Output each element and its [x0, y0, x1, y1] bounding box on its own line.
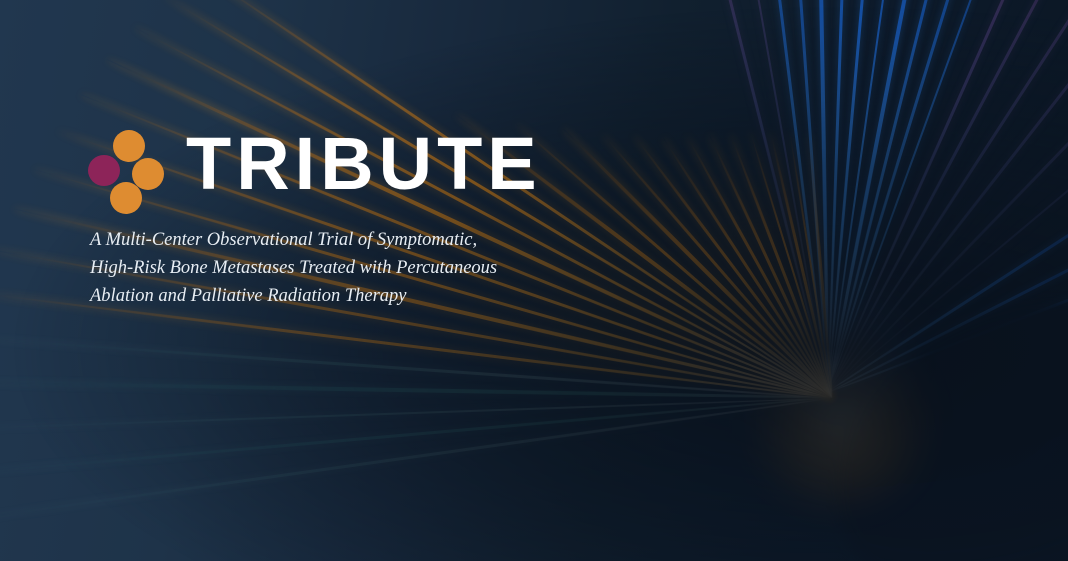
trial-subtitle: A Multi-Center Observational Trial of Sy… [90, 226, 542, 310]
logo-dot-bottom-icon [110, 182, 142, 214]
brand-row: TRIBUTE [88, 128, 542, 204]
tribute-logo-mark [88, 128, 164, 204]
logo-dot-top-icon [113, 130, 145, 162]
logo-dot-left-icon [88, 155, 120, 186]
title-slide: TRIBUTE A Multi-Center Observational Tri… [0, 0, 1068, 561]
brand-lockup: TRIBUTE A Multi-Center Observational Tri… [88, 128, 542, 310]
logo-dot-right-icon [132, 158, 164, 190]
brand-wordmark: TRIBUTE [186, 129, 542, 203]
